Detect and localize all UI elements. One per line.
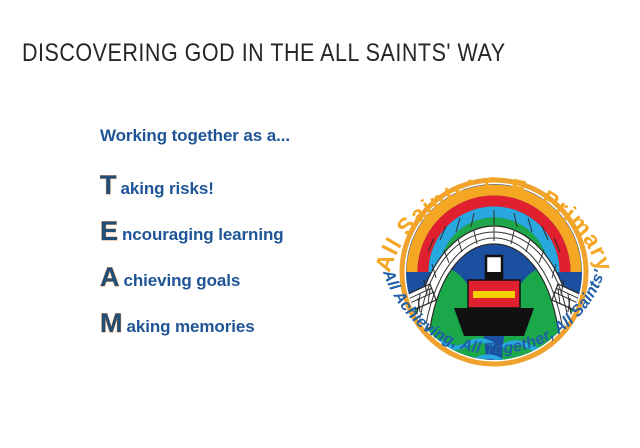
- team-text-m: aking memories: [127, 317, 255, 337]
- team-text-e: ncouraging learning: [122, 225, 284, 245]
- slide-canvas: DISCOVERING GOD IN THE ALL SAINTS' WAY W…: [0, 0, 640, 448]
- team-text-a: chieving goals: [124, 271, 241, 291]
- team-initial-m: M: [100, 310, 123, 337]
- team-initial-a: A: [100, 264, 120, 291]
- team-line-m: M aking memories: [100, 310, 370, 356]
- team-intro-line: Working together as a...: [100, 126, 370, 172]
- team-initial-e: E: [100, 218, 118, 245]
- school-logo: All Saints' C.E. Primary All Achieving, …: [368, 122, 620, 378]
- team-text-t: aking risks!: [121, 179, 214, 199]
- team-acronym-block: Working together as a... T aking risks! …: [100, 126, 370, 356]
- team-line-e: E ncouraging learning: [100, 218, 370, 264]
- team-line-a: A chieving goals: [100, 264, 370, 310]
- team-initial-t: T: [100, 172, 117, 199]
- team-intro-text: Working together as a...: [100, 126, 290, 146]
- page-title: DISCOVERING GOD IN THE ALL SAINTS' WAY: [22, 38, 506, 68]
- team-line-t: T aking risks!: [100, 172, 370, 218]
